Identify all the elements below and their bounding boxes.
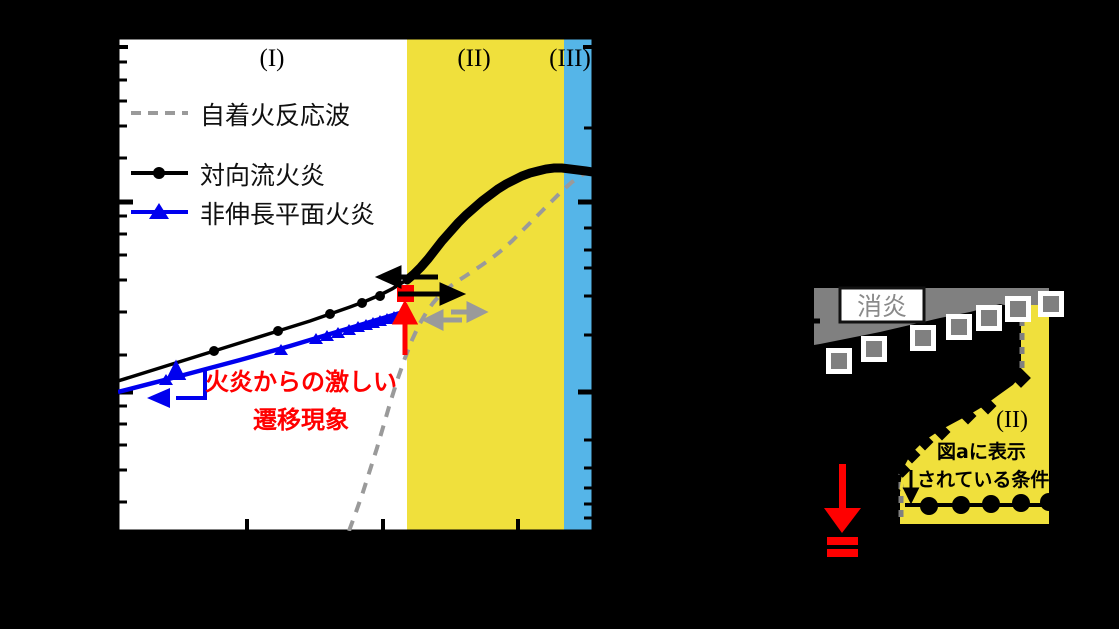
region-band-III xyxy=(564,38,593,531)
region-label-II: (II) xyxy=(457,45,490,72)
region-label-II-panel-b: (II) xyxy=(996,407,1028,433)
caption-line1: 図aに表示 xyxy=(937,440,1026,463)
legend-label-counterflow: 対向流火炎 xyxy=(200,161,325,190)
region-label-III: (III) xyxy=(549,45,591,72)
figure-root: (I) (II) (III) xyxy=(0,0,1119,629)
legend-marker-circle xyxy=(153,167,165,179)
left-chart-panel: (I) (II) (III) xyxy=(118,38,593,531)
caption-line2: されている条件 xyxy=(917,468,1049,491)
region-label-I: (I) xyxy=(260,45,285,72)
figure-canvas: (I) (II) (III) xyxy=(0,0,1119,629)
legend-label-planar: 非伸長平面火炎 xyxy=(200,200,375,229)
quench-label-box: 消炎 xyxy=(840,288,924,322)
red-annotation-line1: 火炎からの激しい xyxy=(205,368,397,396)
legend-label-autoignition: 自着火反応波 xyxy=(200,101,350,130)
quench-label-text: 消炎 xyxy=(857,292,907,321)
red-annotation-line2: 遷移現象 xyxy=(253,406,349,434)
region-band-II xyxy=(407,38,564,531)
